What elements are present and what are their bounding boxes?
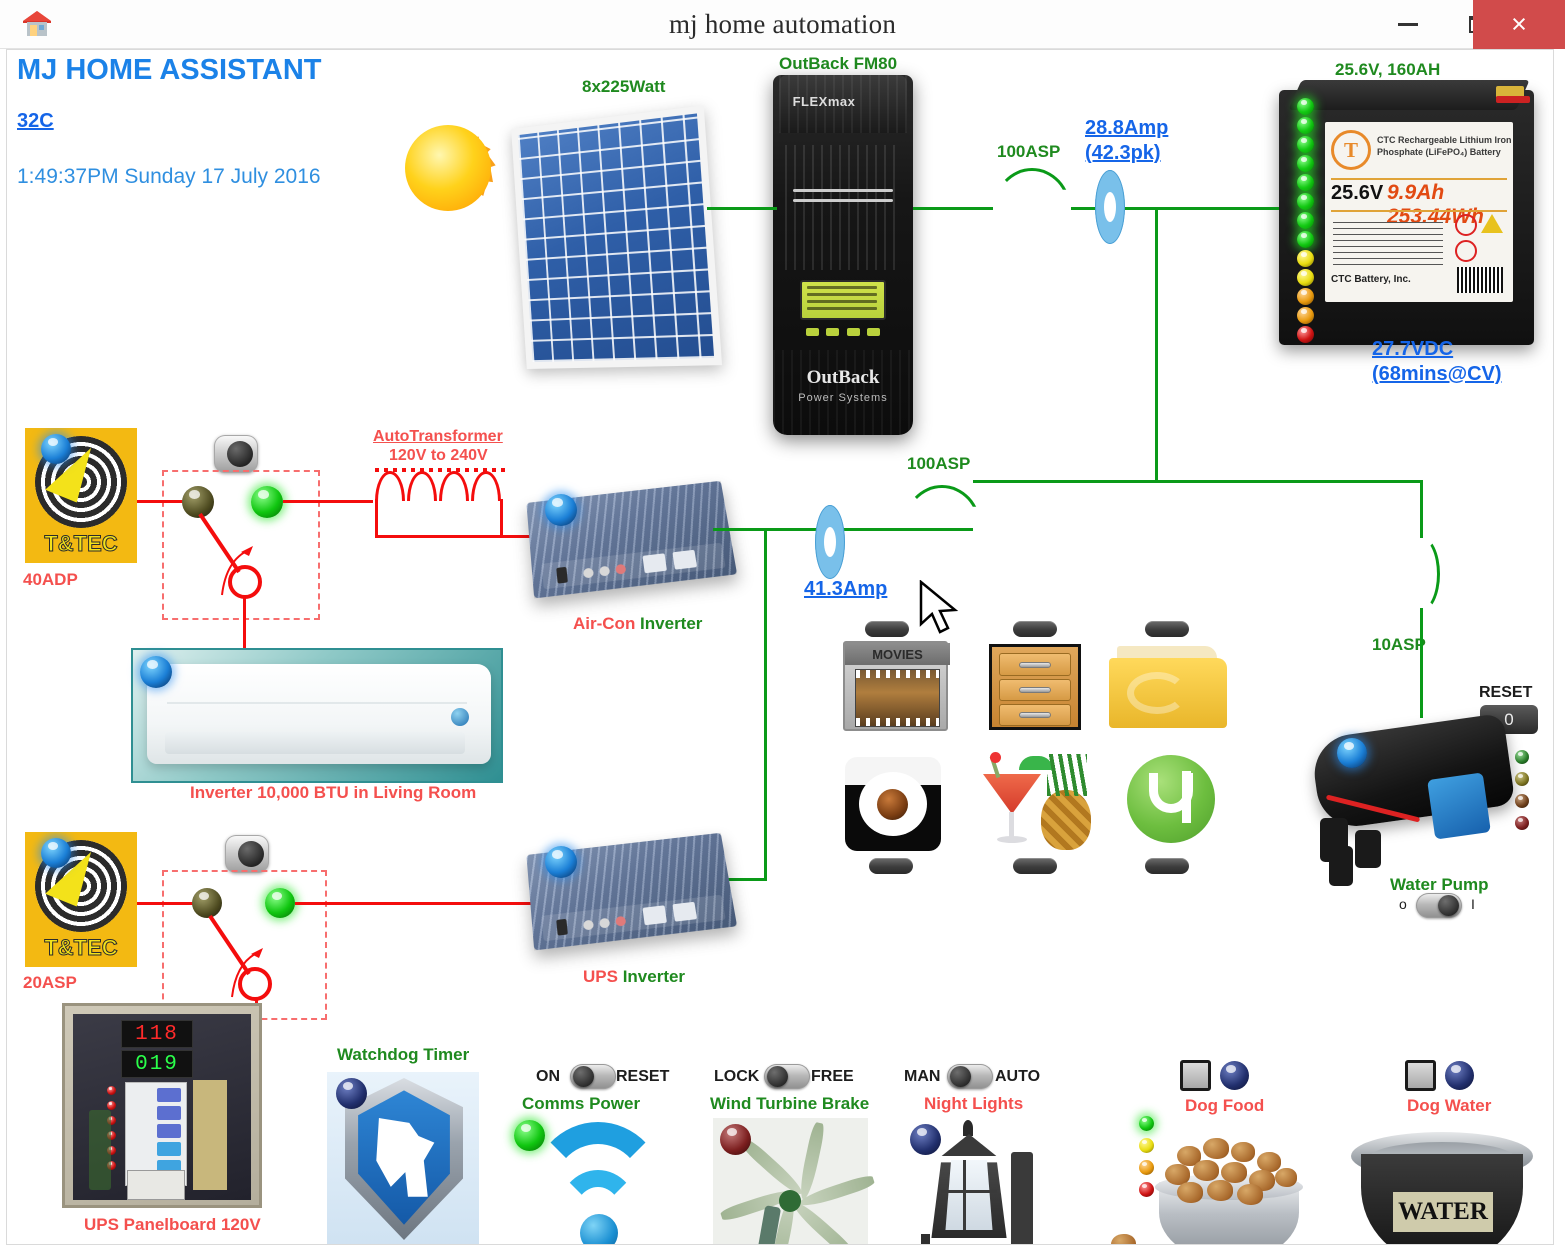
cocktail-icon[interactable] [977, 750, 1097, 852]
solar-array-label: 8x225Watt [582, 77, 665, 97]
current-transformer-inverter [815, 505, 845, 579]
ups-panelboard-image: 118 019 [62, 1003, 262, 1208]
close-icon: × [1511, 9, 1527, 40]
window-title: mj home automation [0, 0, 1565, 49]
pump-toggle-on-mark: I [1471, 896, 1475, 912]
comms-power-caption: Comms Power [522, 1094, 640, 1114]
breaker-solar-label: 100ASP [997, 142, 1060, 162]
battery-image: T CTC Rechargeable Lithium Iron Phosphat… [1279, 90, 1534, 345]
ttec-ups-toggle[interactable] [225, 835, 269, 873]
wind-turbine-right-label: FREE [811, 1068, 854, 1086]
night-lights-right-label: AUTO [995, 1068, 1040, 1086]
wind-turbine-left-label: LOCK [714, 1068, 759, 1086]
ups-panelboard-caption: UPS Panelboard 120V [84, 1215, 261, 1235]
dog-food-button[interactable] [1180, 1060, 1211, 1091]
battery-runtime-link[interactable]: (68mins@CV) [1372, 363, 1502, 386]
title-bar: mj home automation × [0, 0, 1565, 49]
folder-toggle-top[interactable] [1145, 621, 1189, 637]
cabinet-toggle-top[interactable] [1013, 621, 1057, 637]
diagram-canvas: MJ HOME ASSISTANT 32C 1:49:37PM Sunday 1… [6, 49, 1554, 1245]
wind-turbine-brake-led [720, 1124, 751, 1155]
wire-pump-branch-v2 [1420, 608, 1423, 718]
dog-water-led [1445, 1061, 1474, 1090]
movies-icon-label: MOVIES [845, 643, 950, 665]
aircon-status-led [140, 656, 172, 688]
wire-battery-bus-vertical [1155, 207, 1158, 482]
wire-ttec-main-to-ac [243, 595, 246, 650]
datetime-label: 1:49:37PM Sunday 17 July 2016 [17, 165, 321, 189]
ttec-ups-breaker-label: 20ASP [23, 973, 77, 993]
battery-label: T CTC Rechargeable Lithium Iron Phosphat… [1325, 122, 1513, 302]
battery-spec-label: 25.6V, 160AH [1335, 60, 1440, 80]
battery-label-voltage: 25.6V [1331, 182, 1383, 205]
breaker-100asp-inverter [903, 485, 981, 527]
battery-label-company: CTC Battery, Inc. [1331, 274, 1411, 285]
wire-panel-to-controller [707, 207, 777, 210]
wind-turbine-brake-toggle[interactable] [764, 1064, 810, 1089]
eye-icon[interactable] [845, 757, 941, 851]
controller-lcd [800, 280, 886, 320]
pump-toggle-off-mark: o [1399, 896, 1407, 912]
dog-food-caption: Dog Food [1185, 1096, 1264, 1116]
dog-food-bowl-image [1107, 1128, 1317, 1245]
night-lights-left-label: MAN [904, 1068, 940, 1086]
dog-water-bowl-image: WATER [1347, 1132, 1537, 1245]
controller-brand-sub: Power Systems [773, 392, 913, 404]
water-pump-toggle[interactable] [1416, 893, 1462, 918]
aircon-inverter-caption: Air-Con Inverter [573, 614, 702, 634]
folder-icon[interactable] [1109, 642, 1227, 730]
charge-controller-label: OutBack FM80 [779, 54, 897, 74]
pump-reset-label: RESET [1479, 684, 1532, 702]
wire-pump-branch-v1 [1420, 480, 1423, 538]
dog-food-led [1220, 1061, 1249, 1090]
comms-power-right-label: RESET [616, 1068, 669, 1086]
ups-inverter-caption: UPS Inverter [583, 967, 685, 987]
mouse-cursor [919, 580, 963, 642]
utorrent-toggle-bottom[interactable] [1145, 858, 1189, 874]
ttec-main-breaker-label: 40ADP [23, 570, 78, 590]
battery-label-brand: CTC Rechargeable Lithium Iron [1377, 135, 1512, 145]
autotransformer-label-2: 120V to 240V [389, 447, 488, 465]
movies-toggle-top[interactable] [865, 621, 909, 637]
autotransformer-label-1: AutoTransformer [373, 428, 503, 446]
application-window: mj home automation × MJ HOME ASSISTANT 3… [0, 0, 1565, 1253]
charge-amp-link[interactable]: 28.8Amp [1085, 117, 1168, 140]
watchdog-timer-caption: Watchdog Timer [337, 1045, 469, 1065]
charge-controller-image: FLEXmax OutBack P [773, 75, 913, 435]
cocktail-toggle-bottom[interactable] [1013, 858, 1057, 874]
night-lights-toggle[interactable] [947, 1064, 993, 1089]
air-conditioner-image [131, 648, 503, 783]
wire-ttec-ups-out [295, 902, 539, 905]
wire-controller-to-breaker [913, 207, 993, 210]
ttec-main-toggle[interactable] [214, 435, 258, 473]
ups-inverter-led [545, 846, 577, 878]
house-icon [20, 8, 54, 40]
dog-water-caption: Dog Water [1407, 1096, 1491, 1116]
inverter-amp-link[interactable]: 41.3Amp [804, 578, 887, 601]
breaker-10asp-pump [1402, 536, 1440, 612]
battery-voltage-link[interactable]: 27.7VDC [1372, 338, 1453, 361]
cabinet-icon[interactable] [989, 644, 1081, 730]
night-lights-led [910, 1124, 941, 1155]
battery-label-brand2: Phosphate (LiFePO₄) Battery [1377, 147, 1501, 157]
dog-water-button[interactable] [1405, 1060, 1436, 1091]
comms-power-led [514, 1120, 545, 1151]
wire-dc-bus-horizontal [973, 480, 1423, 483]
page-title: MJ HOME ASSISTANT [17, 54, 322, 87]
wire-ups-branch-vertical [764, 528, 767, 880]
aircon-inverter-led [545, 494, 577, 526]
night-lights-caption: Night Lights [924, 1094, 1023, 1114]
charge-amp-peak-link[interactable]: (42.3pk) [1085, 142, 1161, 165]
solar-panel-image [511, 105, 722, 369]
eye-toggle-bottom[interactable] [869, 858, 913, 874]
comms-power-left-label: ON [536, 1068, 560, 1086]
panelboard-display-green: 019 [121, 1050, 193, 1078]
temperature-link[interactable]: 32C [17, 110, 54, 133]
breaker-inverter-label: 100ASP [907, 454, 970, 474]
movies-icon[interactable]: MOVIES [843, 641, 948, 731]
minimize-icon [1398, 23, 1418, 26]
ttec-logo-ups: T&TEC [25, 832, 137, 967]
panelboard-display-red: 118 [121, 1020, 193, 1048]
breaker-100asp-solar [993, 168, 1071, 210]
controller-brand-bottom: OutBack [773, 367, 913, 389]
water-pump-caption: Water Pump [1390, 875, 1489, 895]
sun-icon [373, 98, 523, 238]
comms-power-toggle[interactable] [570, 1064, 616, 1089]
aircon-caption: Inverter 10,000 BTU in Living Room [190, 783, 476, 803]
close-button[interactable]: × [1473, 0, 1565, 49]
ttec-ups-switch-arm [187, 902, 307, 1012]
water-pump-led [1337, 738, 1367, 768]
current-transformer-charge [1095, 170, 1125, 244]
ttec-main-switch-arm [177, 500, 297, 610]
watchdog-timer-led [336, 1078, 367, 1109]
utorrent-icon[interactable]: TM [1127, 755, 1215, 843]
controller-brand-top: FLEXmax [793, 94, 856, 109]
breaker-pump-label: 10ASP [1372, 635, 1426, 655]
minimize-button[interactable] [1373, 0, 1443, 49]
ttec-logo-main: T&TEC [25, 428, 137, 563]
wind-turbine-brake-caption: Wind Turbine Brake [710, 1094, 869, 1114]
dog-water-bowl-text: WATER [1393, 1192, 1493, 1232]
